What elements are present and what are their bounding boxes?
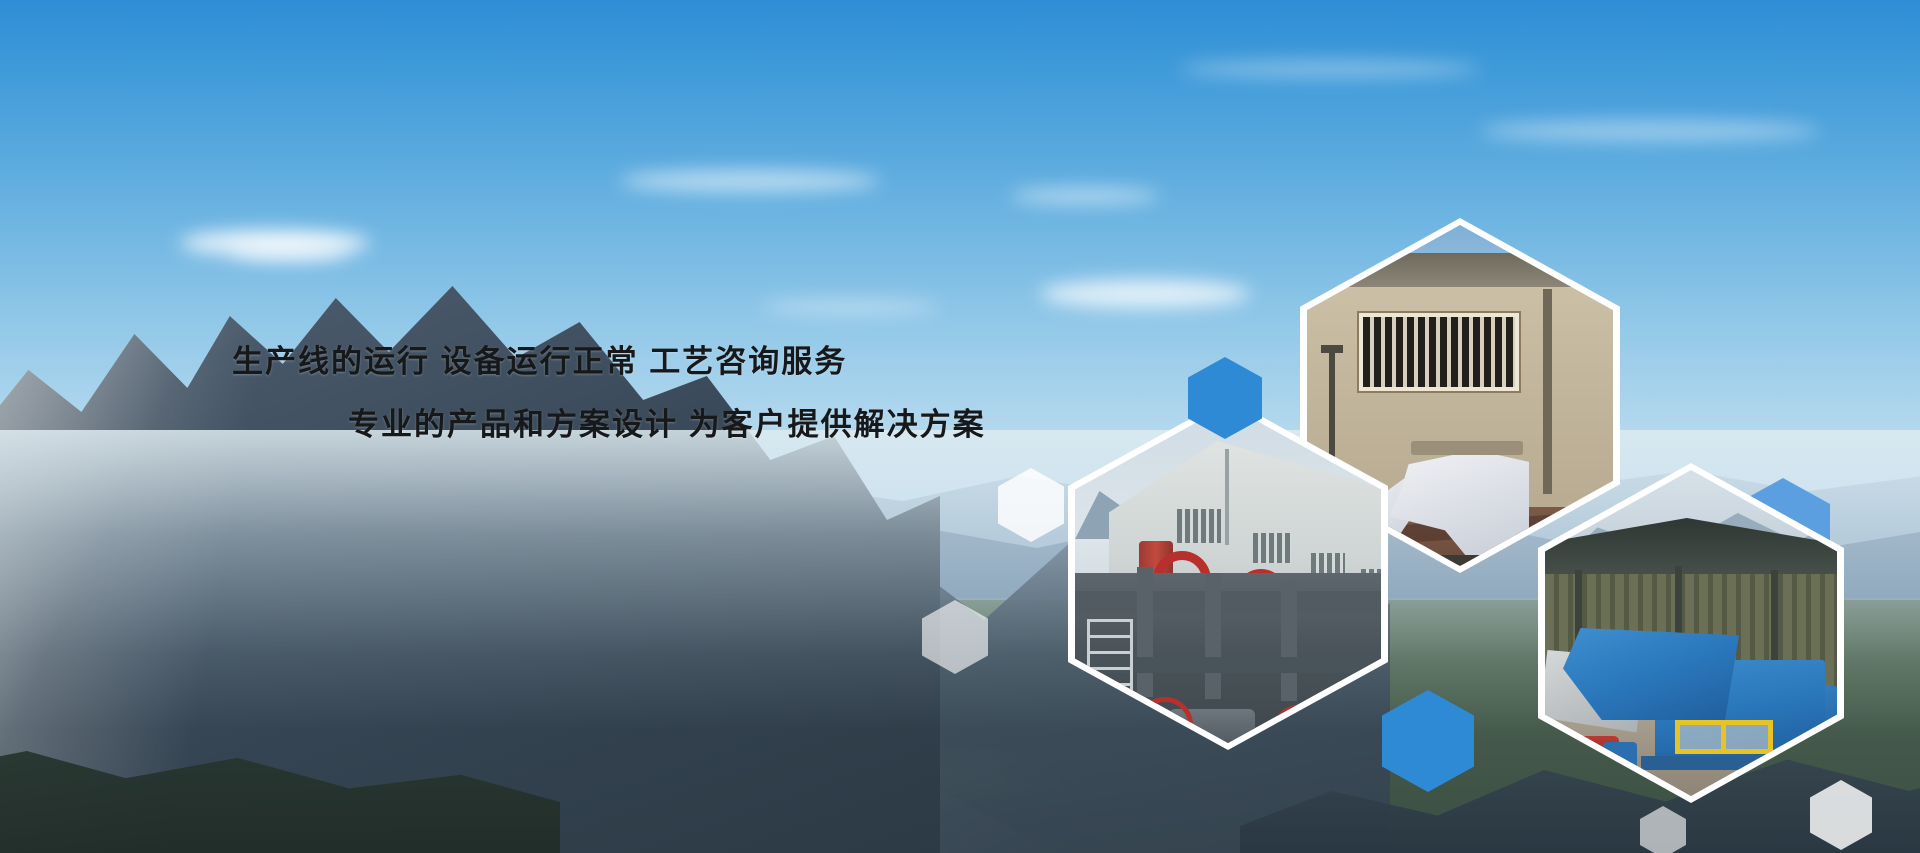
cloud-shape [230,243,350,261]
cloud-shape [1180,60,1480,78]
photo2-column [1205,573,1221,699]
photo1-sign-plate [1321,345,1343,353]
photo3-yellow-guard-bar [1721,720,1726,754]
photo1-downpipe [1543,289,1552,494]
cloud-shape [1040,280,1250,308]
cloud-shape [760,300,940,314]
cloud-shape [1480,120,1820,142]
photo2-window [1177,509,1221,543]
photo1-barred-window [1359,313,1519,391]
headline-line-1: 生产线的运行 设备运行正常 工艺咨询服务 [232,336,847,381]
hero-banner: 生产线的运行 设备运行正常 工艺咨询服务 专业的产品和方案设计 为客户提供解决方… [0,0,1920,853]
photo1-machine-flange [1411,441,1523,455]
cloud-shape [620,170,880,192]
photo2-mast [1225,449,1229,545]
photo2-steel-beam [1075,591,1381,613]
photo2-column [1137,567,1153,697]
headline-line-2: 专业的产品和方案设计 为客户提供解决方案 [348,399,986,444]
cloud-shape [1010,188,1160,204]
photo2-column [1281,581,1297,701]
photo1-sign-pole [1329,349,1335,469]
photo2-window [1253,533,1291,563]
